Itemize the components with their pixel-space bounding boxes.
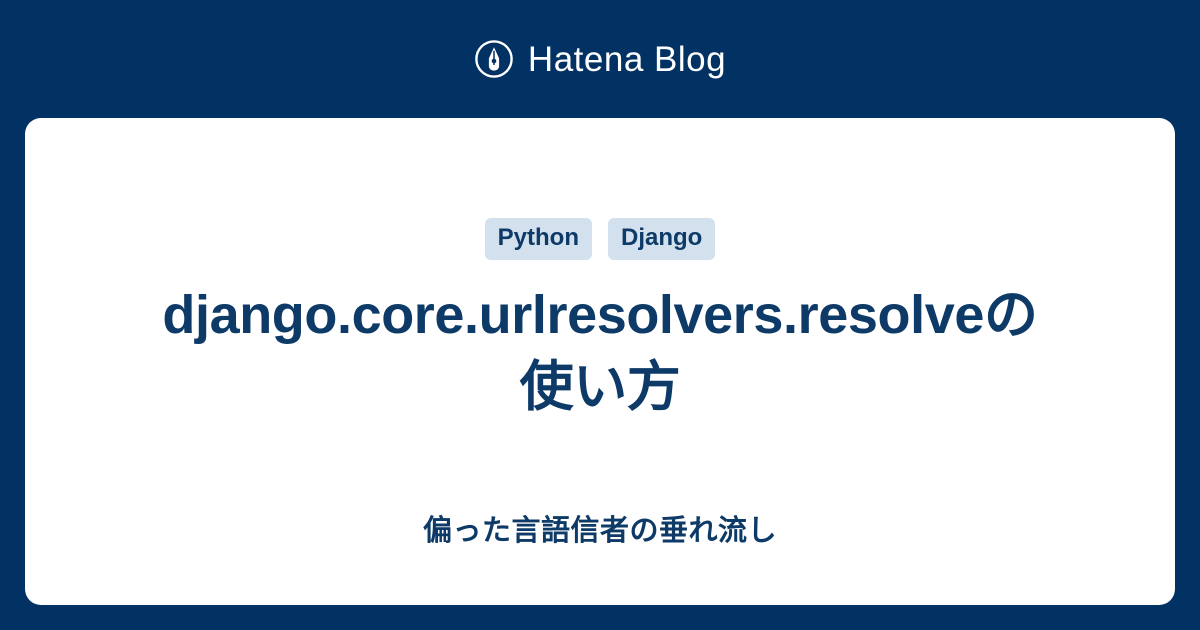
tag-list: Python Django bbox=[485, 220, 716, 258]
tag-item[interactable]: Django bbox=[608, 218, 715, 260]
hatena-blog-brand-header: Hatena Blog bbox=[0, 0, 1200, 118]
fountain-pen-nib-in-circle-icon bbox=[474, 39, 514, 79]
og-image-canvas: Hatena Blog Python Django django.core.ur… bbox=[0, 0, 1200, 630]
entry-title: django.core.urlresolvers.resolveの使い方 bbox=[160, 279, 1040, 423]
entry-card: Python Django django.core.urlresolvers.r… bbox=[25, 118, 1175, 605]
hatena-blog-service-name: Hatena Blog bbox=[528, 42, 726, 77]
hatena-blog-logo bbox=[474, 39, 514, 79]
tag-item[interactable]: Python bbox=[485, 218, 592, 260]
blog-name: 偏った言語信者の垂れ流し bbox=[25, 514, 1175, 549]
